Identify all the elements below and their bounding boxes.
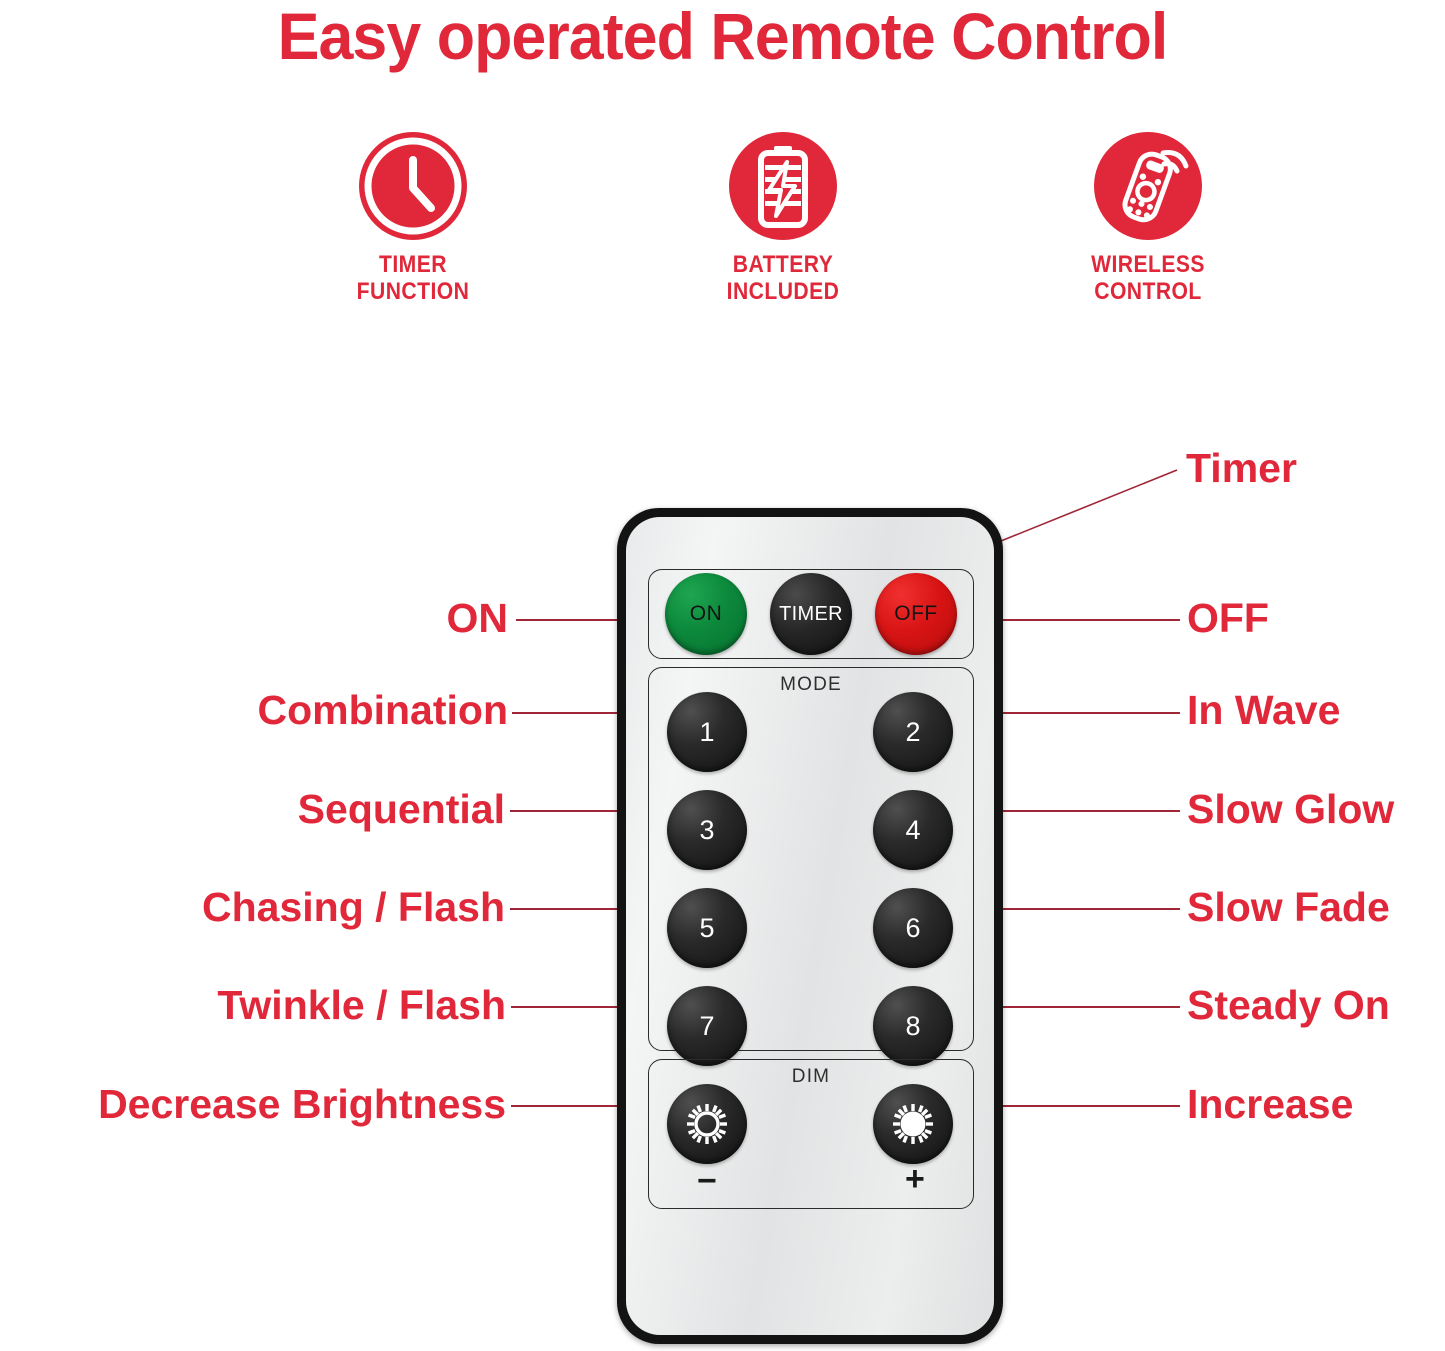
feature-wireless-caption: WIRELESS CONTROL	[1034, 252, 1263, 306]
feature-timer-caption: TIMER FUNCTION	[299, 252, 528, 306]
callout-combination: Combination	[0, 690, 508, 731]
timer-button-label: TIMER	[779, 603, 843, 626]
callout-steadyon: Steady On	[1187, 985, 1390, 1026]
mode-button-3[interactable]: 3	[667, 790, 747, 870]
dim-panel: DIM	[648, 1059, 974, 1209]
mode-button-2[interactable]: 2	[873, 692, 953, 772]
feature-badges: TIMER FUNCTION BATTERY INCLUDED	[0, 132, 1445, 312]
timer-button[interactable]: TIMER	[770, 573, 852, 655]
on-button-label: ON	[690, 602, 723, 626]
mode-button-3-label: 3	[699, 815, 714, 846]
mode-button-5-label: 5	[699, 913, 714, 944]
off-button-label: OFF	[894, 602, 938, 626]
infographic-canvas: Easy operated Remote Control TIMER FUNCT…	[0, 0, 1445, 1351]
remote-signal-icon	[1094, 132, 1202, 240]
mode-button-4[interactable]: 4	[873, 790, 953, 870]
clock-icon	[359, 132, 467, 240]
mode-button-1[interactable]: 1	[667, 692, 747, 772]
mode-button-6-label: 6	[905, 913, 920, 944]
mode-button-5[interactable]: 5	[667, 888, 747, 968]
dim-plus-symbol: +	[905, 1162, 925, 1196]
dim-down-button[interactable]	[667, 1084, 747, 1164]
dim-minus-symbol: −	[697, 1164, 717, 1198]
callout-on: ON	[0, 598, 508, 639]
feature-battery-caption: BATTERY INCLUDED	[669, 252, 898, 306]
feature-battery: BATTERY INCLUDED	[653, 132, 913, 306]
mode-button-2-label: 2	[905, 717, 920, 748]
feature-battery-line1: BATTERY	[733, 251, 833, 278]
feature-wireless-line1: WIRELESS	[1091, 251, 1205, 278]
mode-button-6[interactable]: 6	[873, 888, 953, 968]
off-button[interactable]: OFF	[875, 573, 957, 655]
mode-button-7-label: 7	[699, 1011, 714, 1042]
callout-off: OFF	[1187, 598, 1269, 639]
callout-slowfade: Slow Fade	[1187, 887, 1390, 928]
mode-button-8[interactable]: 8	[873, 986, 953, 1066]
feature-timer-line1: TIMER	[379, 251, 447, 278]
remote-faceplate: ON TIMER OFF MODE 1 2 3 4 5 6 7 8	[626, 517, 994, 1335]
callout-sequential: Sequential	[0, 789, 505, 830]
feature-timer: TIMER FUNCTION	[283, 132, 543, 306]
feature-battery-line2: INCLUDED	[727, 278, 840, 305]
dim-up-button[interactable]	[873, 1084, 953, 1164]
callout-decrease: Decrease Brightness	[0, 1084, 506, 1125]
mode-button-1-label: 1	[699, 717, 714, 748]
callout-inwave: In Wave	[1187, 690, 1340, 731]
remote-control-device: ON TIMER OFF MODE 1 2 3 4 5 6 7 8	[617, 508, 1003, 1344]
feature-wireless-line2: CONTROL	[1094, 278, 1201, 305]
brightness-down-icon	[679, 1096, 735, 1152]
callout-chasing: Chasing / Flash	[0, 887, 505, 928]
page-title: Easy operated Remote Control	[36, 0, 1409, 74]
power-panel: ON TIMER OFF	[648, 569, 974, 659]
battery-icon	[729, 132, 837, 240]
mode-button-4-label: 4	[905, 815, 920, 846]
callout-slowglow: Slow Glow	[1187, 789, 1394, 830]
callout-twinkle: Twinkle / Flash	[0, 985, 506, 1026]
feature-timer-line2: FUNCTION	[357, 278, 470, 305]
on-button[interactable]: ON	[665, 573, 747, 655]
brightness-up-icon	[885, 1096, 941, 1152]
callout-increase: Increase	[1187, 1084, 1353, 1125]
callout-timer: Timer	[1186, 448, 1297, 489]
mode-panel: MODE 1 2 3 4 5 6 7 8	[648, 667, 974, 1051]
feature-wireless: WIRELESS CONTROL	[1018, 132, 1278, 306]
mode-button-8-label: 8	[905, 1011, 920, 1042]
mode-button-7[interactable]: 7	[667, 986, 747, 1066]
